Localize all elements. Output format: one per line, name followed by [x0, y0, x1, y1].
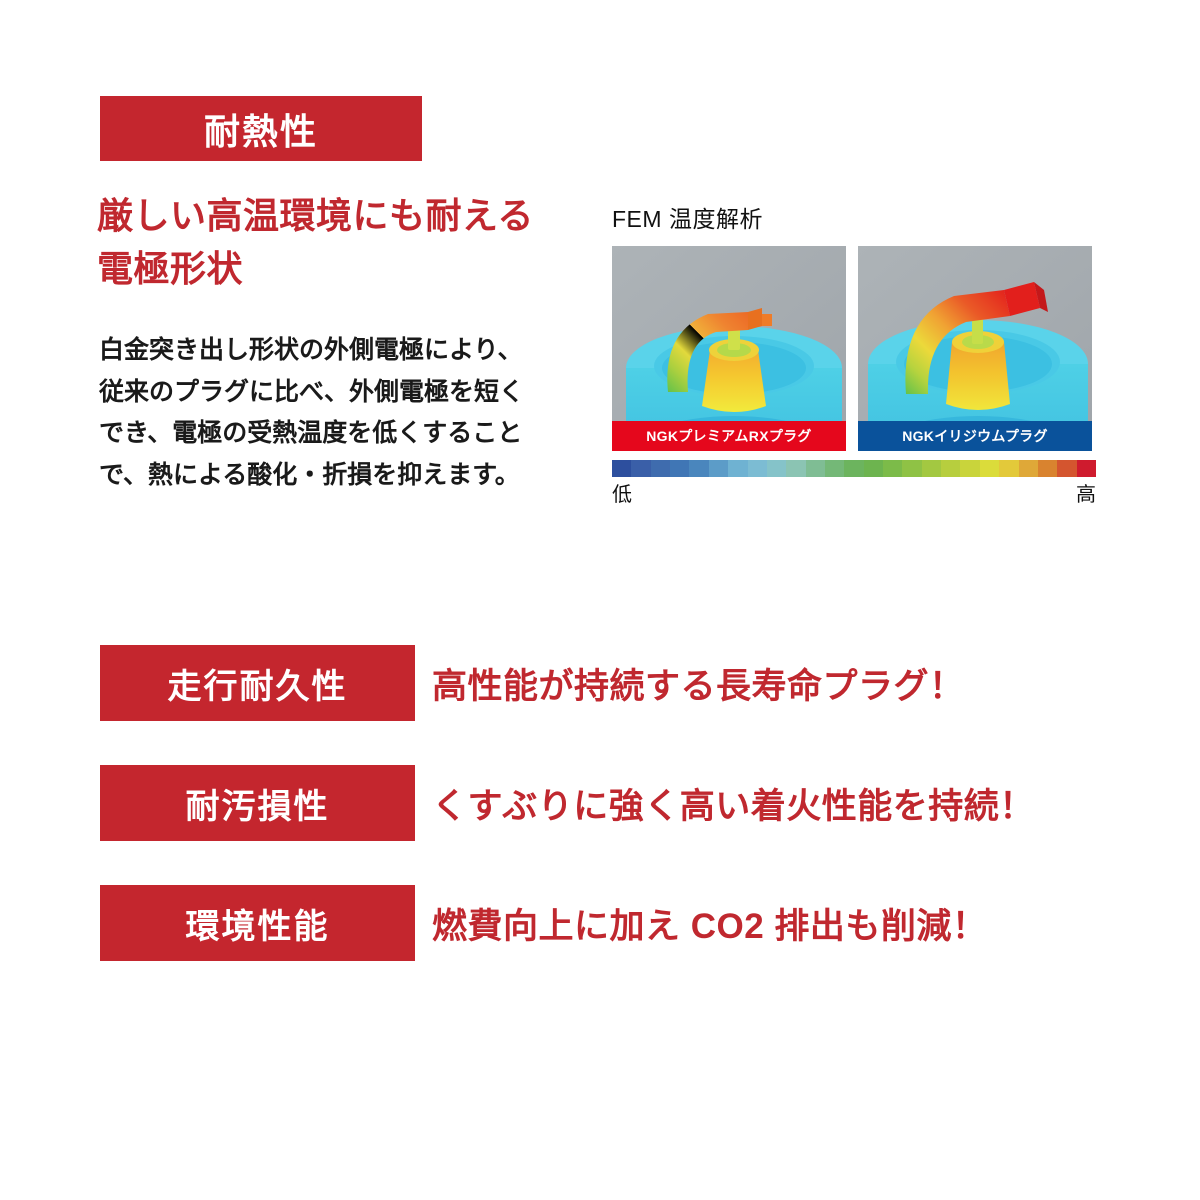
- fem-panel-label-iridium: NGKイリジウムプラグ: [858, 421, 1092, 451]
- fem-panel-label-premium-rx: NGKプレミアムRXプラグ: [612, 421, 846, 451]
- scale-segment-22: [1038, 460, 1057, 477]
- feature-row: 耐汚損性くすぶりに強く高い着火性能を持続！: [0, 765, 1200, 841]
- feature-badge: 走行耐久性: [100, 645, 415, 721]
- scale-segment-18: [960, 460, 979, 477]
- heat-resistance-body-text: 白金突き出し形状の外側電極により、 従来のプラグに比べ、外側電極を短く でき、電…: [99, 330, 591, 496]
- scale-label-high: 高: [1076, 478, 1096, 507]
- fem-panel-group: NGKプレミアムRXプラグ: [612, 246, 1096, 451]
- scale-segment-19: [980, 460, 999, 477]
- scale-segment-13: [864, 460, 883, 477]
- feature-badge: 耐汚損性: [100, 765, 415, 841]
- fem-analysis-figure: FEM 温度解析: [612, 200, 1096, 507]
- fem-panel-iridium: NGKイリジウムプラグ: [858, 246, 1092, 451]
- scale-segment-7: [748, 460, 767, 477]
- feature-badge: 環境性能: [100, 885, 415, 961]
- body-line-3: でき、電極の受熱温度を低くすること: [99, 413, 591, 455]
- feature-tagline: 燃費向上に加え CO2 排出も削減！: [432, 885, 987, 961]
- body-line-1: 白金突き出し形状の外側電極により、: [99, 330, 591, 372]
- scale-segment-1: [631, 460, 650, 477]
- scale-segment-15: [902, 460, 921, 477]
- feature-row: 走行耐久性高性能が持続する長寿命プラグ！: [0, 645, 1200, 721]
- scale-segment-8: [767, 460, 786, 477]
- scale-segment-6: [728, 460, 747, 477]
- feature-list: 走行耐久性高性能が持続する長寿命プラグ！耐汚損性くすぶりに強く高い着火性能を持続…: [0, 645, 1200, 1005]
- body-line-2: 従来のプラグに比べ、外側電極を短く: [99, 372, 591, 414]
- scale-segment-4: [689, 460, 708, 477]
- body-line-4: で、熱による酸化・折損を抑えます。: [99, 455, 591, 497]
- headline-line-2: 電極形状: [97, 243, 597, 296]
- fem-panel-premium-rx: NGKプレミアムRXプラグ: [612, 246, 846, 451]
- temperature-scale-legend: 低 高: [612, 478, 1096, 507]
- scale-segment-0: [612, 460, 631, 477]
- scale-label-low: 低: [612, 478, 632, 507]
- scale-segment-12: [844, 460, 863, 477]
- scale-segment-24: [1077, 460, 1096, 477]
- scale-segment-20: [999, 460, 1018, 477]
- scale-segment-16: [922, 460, 941, 477]
- temperature-color-scale: [612, 460, 1096, 477]
- scale-segment-17: [941, 460, 960, 477]
- scale-segment-21: [1019, 460, 1038, 477]
- heat-resistance-headline: 厳しい高温環境にも耐える 電極形状: [97, 190, 597, 295]
- scale-segment-3: [670, 460, 689, 477]
- feature-tagline: 高性能が持続する長寿命プラグ！: [432, 645, 965, 721]
- feature-tagline: くすぶりに強く高い着火性能を持続！: [432, 765, 1035, 841]
- section-badge-heat-resistance: 耐熱性: [100, 96, 422, 161]
- scale-segment-23: [1057, 460, 1076, 477]
- feature-row: 環境性能燃費向上に加え CO2 排出も削減！: [0, 885, 1200, 961]
- scale-segment-11: [825, 460, 844, 477]
- scale-segment-2: [651, 460, 670, 477]
- scale-segment-5: [709, 460, 728, 477]
- scale-segment-9: [786, 460, 805, 477]
- scale-segment-14: [883, 460, 902, 477]
- scale-segment-10: [806, 460, 825, 477]
- headline-line-1: 厳しい高温環境にも耐える: [97, 190, 597, 243]
- fem-caption: FEM 温度解析: [612, 200, 1096, 234]
